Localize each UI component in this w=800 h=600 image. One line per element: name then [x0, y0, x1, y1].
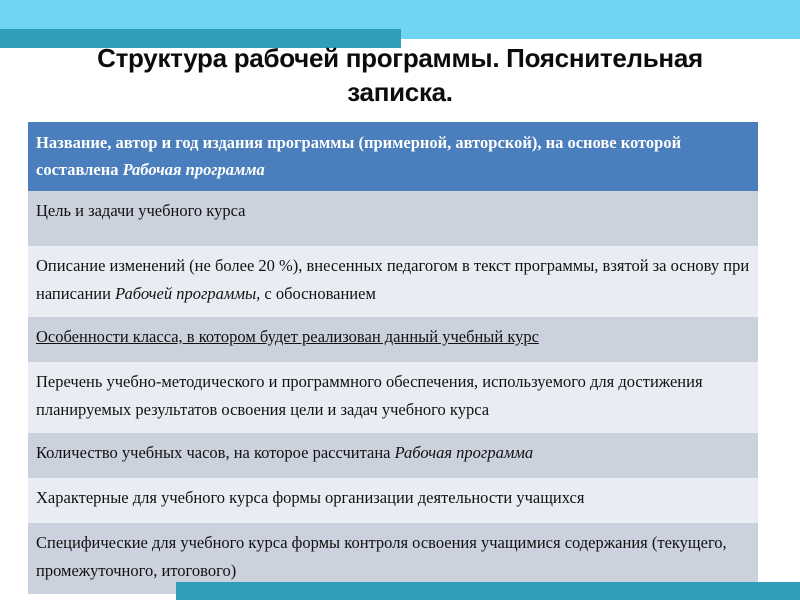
table-row-text: Характерные для учебного курса формы орг…: [36, 488, 584, 507]
table-row-text: Перечень учебно-методического и программ…: [36, 372, 703, 419]
table-header-row: Название, автор и год издания программы …: [28, 122, 758, 191]
table-row-text: Специфические для учебного курса формы к…: [36, 533, 727, 580]
table-row: Цель и задачи учебного курса: [28, 191, 758, 246]
body-text: Количество учебных часов, на которое рас…: [36, 443, 395, 462]
table-row: Количество учебных часов, на которое рас…: [28, 433, 758, 478]
table-row-text: Количество учебных часов, на которое рас…: [36, 443, 533, 462]
footer-band-teal: [176, 582, 800, 600]
emphasis-text: Рабочая программа: [395, 443, 534, 462]
body-text: Особенности класса, в котором будет реал…: [36, 327, 539, 346]
table-row: Характерные для учебного курса формы орг…: [28, 478, 758, 523]
body-text: Цель и задачи учебного курса: [36, 201, 245, 220]
body-text: Специфические для учебного курса формы к…: [36, 533, 727, 580]
table-row-text: Цель и задачи учебного курса: [36, 201, 245, 220]
body-text: Перечень учебно-методического и программ…: [36, 372, 703, 419]
slide-title: Структура рабочей программы. Пояснительн…: [30, 41, 770, 109]
body-text: с обоснованием: [260, 284, 376, 303]
structure-table: Название, автор и год издания программы …: [28, 122, 758, 594]
table-row: Особенности класса, в котором будет реал…: [28, 317, 758, 362]
table-row-text: Описание изменений (не более 20 %), внес…: [36, 256, 749, 303]
table-row: Перечень учебно-методического и программ…: [28, 362, 758, 433]
table-row-text: Особенности класса, в котором будет реал…: [36, 327, 539, 346]
emphasis-text: Рабочая программа: [123, 160, 265, 179]
emphasis-text: Рабочей программы,: [115, 284, 260, 303]
table-row: Описание изменений (не более 20 %), внес…: [28, 246, 758, 317]
table-row-text: Название, автор и год издания программы …: [36, 133, 681, 179]
body-text: Характерные для учебного курса формы орг…: [36, 488, 584, 507]
